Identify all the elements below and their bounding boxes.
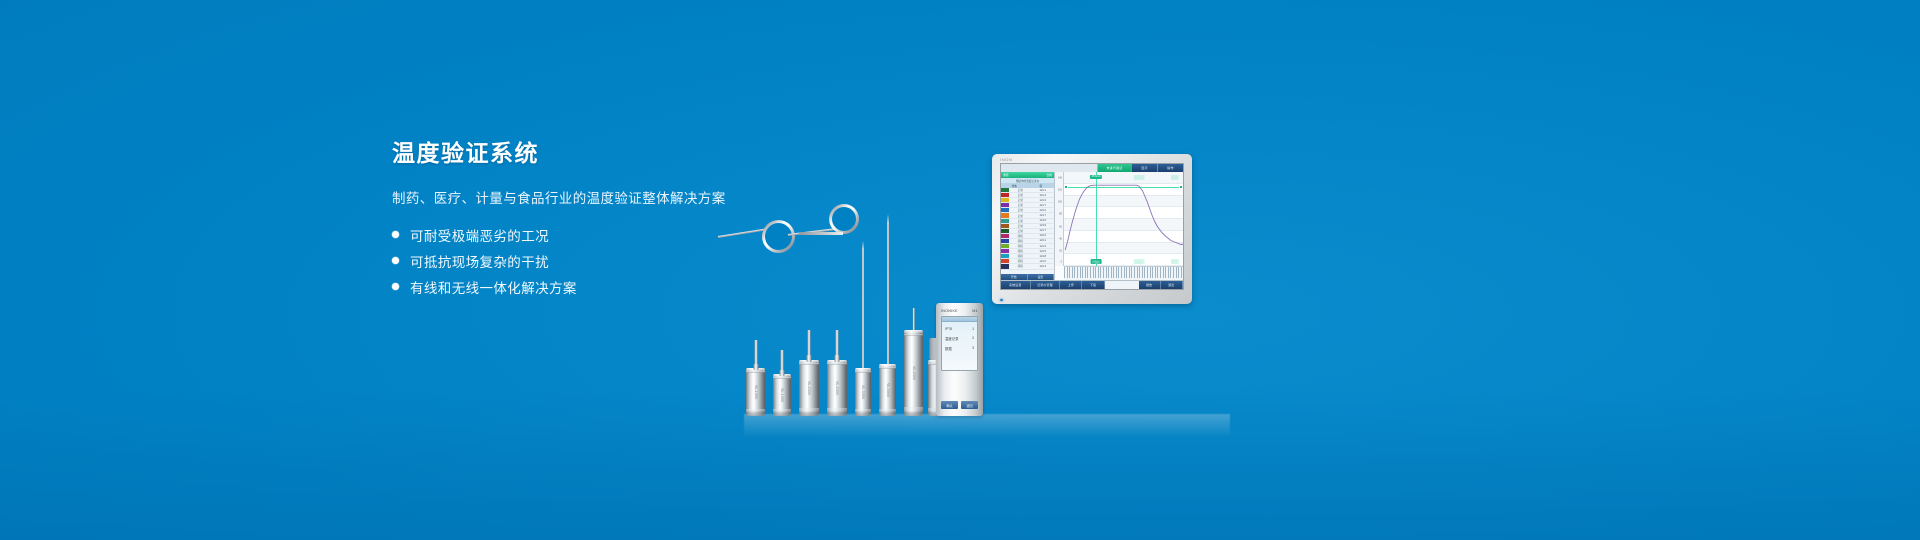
- bullet-dot-icon: [392, 231, 399, 238]
- channel-color-swatch: [1001, 213, 1009, 217]
- bullet-dot-icon: [392, 257, 399, 264]
- channel-data-panel: 通道 合格 测试中的温度记录仪 状态 值 正常121.1 正常121.4 正常1…: [1001, 172, 1055, 280]
- handheld-row-value: 3: [972, 346, 974, 351]
- cell-value: 121.4: [1032, 265, 1055, 268]
- cell-state: 待机: [1009, 234, 1032, 238]
- software-workstation-monitor: INON 未进行验证 显示 操作 通道 合格: [992, 154, 1192, 304]
- handheld-row-label: IP78: [945, 327, 952, 331]
- channel-table-body: 正常121.1 正常121.4 正常121.3 正常121.7 正常121.2 …: [1001, 188, 1054, 274]
- hero-copy-block: 温度验证系统 制药、医疗、计量与食品行业的温度验证整体解决方案 可耐受极端恶劣的…: [392, 140, 822, 304]
- app-body: 通道 合格 测试中的温度记录仪 状态 值 正常121.1 正常121.4 正常1…: [1001, 172, 1183, 280]
- probe-stem: [912, 308, 915, 330]
- channel-color-swatch: [1001, 234, 1009, 238]
- report-button[interactable]: 报告: [1139, 281, 1161, 289]
- channel-color-swatch: [1001, 239, 1009, 243]
- list-item: VL-3000: [855, 368, 871, 416]
- logger-manager-button[interactable]: 记录仪管理: [1031, 281, 1061, 289]
- page-title: 温度验证系统: [392, 140, 822, 168]
- channel-color-swatch: [1001, 229, 1009, 233]
- channel-color-swatch: [1001, 208, 1009, 212]
- app-bottom-toolbar: 系统设置 记录仪管理 上传 下载 报告 退出: [1001, 280, 1183, 289]
- logger-label: VL-2000: [835, 381, 839, 395]
- probe-cap: [807, 355, 812, 362]
- cell-value: 121.2: [1032, 260, 1055, 263]
- monitor-screen: 未进行验证 显示 操作 通道 合格 测试中的温度记录仪 状态: [1000, 163, 1184, 290]
- list-item: VL-1000: [746, 368, 765, 416]
- logger-band: [904, 334, 923, 336]
- list-item: VL-4000: [904, 330, 923, 416]
- handheld-keypad: 确认 返回: [941, 401, 978, 409]
- cell-value: 121.3: [1032, 245, 1055, 248]
- cell-state: 待机: [1009, 249, 1032, 253]
- hero-banner: 温度验证系统 制药、医疗、计量与食品行业的温度验证整体解决方案 可耐受极端恶劣的…: [0, 0, 1920, 540]
- logger-band: [799, 363, 819, 365]
- floor-reflection: [744, 414, 1230, 438]
- list-item: VL-1000: [773, 374, 791, 416]
- needle-probe: [862, 250, 864, 368]
- handheld-branding: INONIKE M1: [936, 309, 983, 313]
- toolbar-status-button[interactable]: 未进行验证: [1097, 164, 1131, 172]
- list-item: 有线和无线一体化解决方案: [392, 278, 822, 296]
- logger-label: VL-3000: [861, 385, 865, 399]
- list-item: VL-2000: [799, 360, 819, 416]
- channel-color-swatch: [1001, 219, 1009, 223]
- cell-state: 待机: [1009, 239, 1032, 243]
- panel-header-left: 通道: [1003, 173, 1009, 177]
- list-item: VL-2000: [827, 360, 847, 416]
- cell-value: 121.5: [1032, 219, 1055, 222]
- logger-label: VL-3000: [886, 383, 890, 397]
- chart-y-axis: 140 120 100 80 60 40 20 0: [1055, 172, 1064, 266]
- list-item: 数据 3: [942, 346, 977, 351]
- temperature-chart: 140 120 100 80 60 40 20 0: [1055, 172, 1183, 280]
- cell-state: 正常: [1009, 208, 1032, 212]
- coil-probe-2: [825, 196, 891, 246]
- y-tick-label: 80: [1059, 213, 1062, 216]
- table-row[interactable]: 待机121.4: [1001, 264, 1054, 269]
- channel-color-swatch: [1001, 259, 1009, 263]
- needle-tip-icon: [887, 214, 889, 224]
- feature-label: 可耐受极端恶劣的工况: [410, 225, 549, 245]
- handheld-row-label: 温度记录: [945, 336, 959, 341]
- handheld-row-value: 1: [972, 327, 974, 331]
- download-button[interactable]: 下载: [1082, 281, 1104, 289]
- cell-state: 正常: [1009, 214, 1032, 218]
- chart-canvas[interactable]: 45.6min 升温点 最高点 灭菌点 结束 终点: [1064, 172, 1183, 266]
- channel-color-swatch: [1001, 244, 1009, 248]
- cell-value: 121.7: [1032, 204, 1055, 207]
- upload-button[interactable]: 上传: [1060, 281, 1082, 289]
- needle-tip-icon: [862, 241, 864, 250]
- cell-value: 121.1: [1032, 239, 1055, 242]
- cell-value: 121.2: [1032, 209, 1055, 212]
- feature-list: 可耐受极端恶劣的工况 可抵抗现场复杂的干扰 有线和无线一体化解决方案: [392, 226, 822, 296]
- channel-color-swatch: [1001, 254, 1009, 258]
- handheld-back-button[interactable]: 返回: [961, 401, 978, 409]
- cell-state: 正常: [1009, 198, 1032, 202]
- y-tick-label: 40: [1059, 237, 1062, 240]
- cell-value: 121.8: [1032, 255, 1055, 258]
- y-tick-label: 140: [1058, 176, 1062, 179]
- logger-label: VL-4000: [912, 366, 916, 380]
- probe-coil-ring: [829, 204, 859, 234]
- toolbar-spacer: [1105, 281, 1139, 289]
- logger-band: [773, 377, 791, 379]
- exit-button[interactable]: 退出: [1161, 281, 1183, 289]
- cell-state: 正常: [1009, 188, 1032, 192]
- monitor-brand-label: INON: [1000, 157, 1012, 162]
- list-item: IP78 1: [942, 327, 977, 331]
- cell-state: 正常: [1009, 203, 1032, 207]
- power-led-icon: [1000, 299, 1003, 302]
- feature-label: 有线和无线一体化解决方案: [410, 277, 577, 297]
- cell-value: 121.1: [1032, 189, 1055, 192]
- cell-state: 待机: [1009, 254, 1032, 258]
- panel-header-right: 合格: [1046, 173, 1052, 177]
- cell-value: 121.4: [1032, 194, 1055, 197]
- handheld-confirm-button[interactable]: 确认: [941, 401, 958, 409]
- cell-state: 待机: [1009, 244, 1032, 248]
- channel-color-swatch: [1001, 198, 1009, 202]
- handheld-row-value: 2: [972, 336, 974, 341]
- cell-value: 121.0: [1032, 234, 1055, 237]
- logger-band: [746, 371, 765, 373]
- list-item: 可抵抗现场复杂的干扰: [392, 252, 822, 270]
- channel-color-swatch: [1001, 264, 1009, 268]
- y-tick-label: 120: [1058, 188, 1062, 191]
- cell-state: 正常: [1009, 224, 1032, 228]
- chart-plot-area: 140 120 100 80 60 40 20 0: [1055, 172, 1183, 266]
- probe-cap: [753, 364, 758, 370]
- list-item: 可耐受极端恶劣的工况: [392, 226, 822, 244]
- cell-value: 121.3: [1032, 199, 1055, 202]
- handheld-reader: INONIKE M1 IP78 1 温度记录 2 数据 3 确认: [936, 303, 983, 416]
- page-subtitle: 制药、医疗、计量与食品行业的温度验证整体解决方案: [392, 187, 822, 207]
- channel-color-swatch: [1001, 203, 1009, 207]
- handheld-brand-label: INONIKE: [941, 309, 958, 313]
- handheld-statusbar: [942, 317, 977, 322]
- handheld-screen[interactable]: IP78 1 温度记录 2 数据 3: [941, 316, 978, 371]
- logger-band: [827, 363, 847, 365]
- channel-color-swatch: [1001, 193, 1009, 197]
- cell-value: 121.9: [1032, 224, 1055, 227]
- needle-probe: [887, 224, 889, 364]
- logger-band: [855, 371, 871, 373]
- list-item: 温度记录 2: [942, 336, 977, 341]
- chart-x-axis: [1064, 266, 1183, 280]
- column-header-value: 值: [1028, 184, 1055, 188]
- cell-state: 待机: [1009, 259, 1032, 263]
- list-item: VL-3000: [879, 364, 896, 416]
- handheld-row-label: 数据: [945, 346, 952, 351]
- logger-label: VL-2000: [807, 381, 811, 395]
- probe-cap: [780, 370, 785, 376]
- app-toolbar: 未进行验证 显示 操作: [1001, 164, 1183, 172]
- channel-color-swatch: [1001, 224, 1009, 228]
- cell-value: 121.7: [1032, 229, 1055, 232]
- logger-band: [879, 367, 896, 369]
- series-line: [1064, 172, 1183, 266]
- toolbar-operation-button[interactable]: 操作: [1157, 164, 1183, 172]
- cell-state: 待机: [1009, 264, 1032, 268]
- cell-state: 正常: [1009, 193, 1032, 197]
- cell-state: 正常: [1009, 219, 1032, 223]
- y-tick-label: 20: [1059, 249, 1062, 252]
- y-tick-label: 60: [1059, 225, 1062, 228]
- y-tick-label: 0: [1061, 261, 1062, 264]
- channel-color-swatch: [1001, 188, 1009, 192]
- y-tick-label: 100: [1058, 201, 1062, 204]
- system-settings-button[interactable]: 系统设置: [1001, 281, 1031, 289]
- toolbar-display-button[interactable]: 显示: [1131, 164, 1157, 172]
- column-header-state: 状态: [1001, 184, 1028, 188]
- handheld-model-label: M1: [972, 309, 978, 313]
- cell-value: 121.7: [1032, 214, 1055, 217]
- cell-state: 正常: [1009, 229, 1032, 233]
- toolbar-spacer: [1001, 164, 1097, 172]
- channel-color-swatch: [1001, 249, 1009, 253]
- logger-label: VL-1000: [780, 388, 784, 402]
- bullet-dot-icon: [392, 283, 399, 290]
- feature-label: 可抵抗现场复杂的干扰: [410, 251, 549, 271]
- logger-label: VL-1000: [754, 385, 758, 399]
- probe-cap: [835, 355, 840, 362]
- cell-value: 121.5: [1032, 250, 1055, 253]
